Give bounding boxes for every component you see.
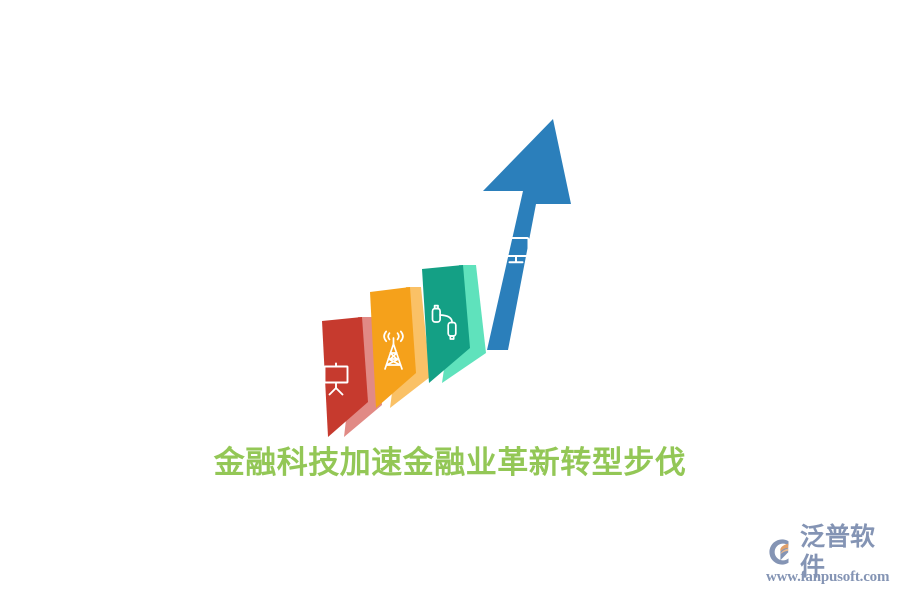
segment-blue-shaft-and-head <box>483 119 571 350</box>
fanpu-logo-mark-icon <box>765 536 797 568</box>
brand-watermark: 泛普软件 www.fanpusoft.com <box>765 534 895 592</box>
arrow-segment-blue <box>483 119 571 350</box>
arrow-segment-teal <box>422 265 486 383</box>
rising-arrow-infographic <box>290 105 590 450</box>
canvas: 金融科技加速金融业革新转型步伐 泛普软件 www.fanpusoft.com <box>0 0 900 600</box>
arrow-segment-orange <box>370 287 430 408</box>
page-title: 金融科技加速金融业革新转型步伐 <box>0 441 900 485</box>
brand-logo-row: 泛普软件 <box>765 534 895 570</box>
brand-url: www.fanpusoft.com <box>765 569 895 586</box>
